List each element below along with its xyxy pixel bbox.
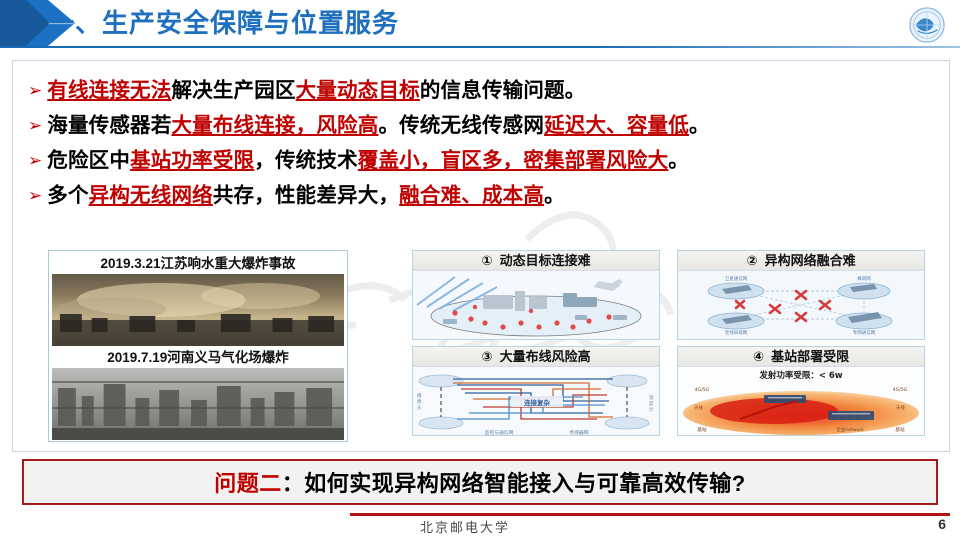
question-banner: 问题二：如何实现异构网络智能接入与可靠高效传输? bbox=[22, 459, 938, 505]
bullet-list: ➢ 有线连接无法解决生产园区大量动态目标的信息传输问题。 ➢ 海量传感器若大量布… bbox=[28, 76, 938, 216]
bullet-segment: 。 bbox=[544, 184, 565, 207]
svg-text:像: 像 bbox=[417, 398, 422, 405]
problem-panel-2: ② 异构网络融合难 bbox=[677, 250, 925, 340]
svg-text:卫星通信网: 卫星通信网 bbox=[725, 275, 748, 282]
svg-text:连接复杂: 连接复杂 bbox=[524, 398, 551, 407]
svg-text:头: 头 bbox=[417, 404, 422, 411]
problem-panel-grid: ① 动态目标连接难 bbox=[412, 250, 930, 442]
panel-title: ① 动态目标连接难 bbox=[413, 251, 659, 271]
photo-caption: 2019.7.19河南义马气化场爆炸 bbox=[52, 348, 344, 368]
question-label: 问题二 bbox=[214, 471, 282, 496]
problem-panel-3: ③ 大量布线风险高 bbox=[412, 346, 660, 436]
panel-index: ② bbox=[746, 253, 757, 268]
bullet-segment: 有线连接无法 bbox=[47, 79, 171, 102]
bullet-segment: 基站功率受限 bbox=[130, 149, 254, 172]
bullet-item: ➢ 海量传感器若大量布线连接，风险高。传统无线传感网延迟大、容量低。 bbox=[28, 111, 938, 141]
svg-text:监控与通信网: 监控与通信网 bbox=[485, 429, 514, 436]
bullet-segment: ，传统技术 bbox=[254, 149, 358, 172]
bullet-segment: 共存，性能差异大， bbox=[213, 184, 399, 207]
footer-organization: 北京邮电大学 bbox=[420, 517, 510, 536]
bullet-segment: 解决生产园区 bbox=[171, 79, 295, 102]
header-divider bbox=[0, 46, 960, 48]
svg-text:传感器网: 传感器网 bbox=[569, 429, 588, 436]
accident-photo-card: 2019.7.19河南义马气化场爆炸 bbox=[52, 348, 344, 440]
question-text: 问题二：如何实现异构网络智能接入与可靠高效传输? bbox=[214, 466, 745, 498]
svg-text:摄: 摄 bbox=[417, 392, 422, 399]
panel-label: 基站部署受限 bbox=[771, 349, 849, 364]
svg-text:基站: 基站 bbox=[895, 426, 905, 433]
bullet-segment: 延迟大、容量低 bbox=[544, 114, 689, 137]
svg-text:度: 度 bbox=[649, 400, 654, 407]
bullet-segment: 。 bbox=[668, 149, 689, 172]
panel-note-text: 发射功率受限：< 6w bbox=[758, 370, 842, 381]
svg-text:4G/5G: 4G/5G bbox=[893, 387, 908, 393]
panel-diagram-dynamic-targets bbox=[413, 271, 659, 340]
bullet-segment: 多个 bbox=[47, 184, 88, 207]
bullet-segment: 异构无线网络 bbox=[89, 184, 213, 207]
panel-diagram-cabling-risk: 连接复杂 监控与通信网 传感器网 摄像头 温度计 bbox=[413, 367, 659, 436]
panel-diagram-heterogeneous-networks: 卫星通信网 蜂窝网 无线局域网 专网通信网 bbox=[678, 271, 924, 340]
svg-text:企业network: 企业network bbox=[836, 426, 864, 433]
panel-title: ③ 大量布线风险高 bbox=[413, 347, 659, 367]
panel-label: 异构网络融合难 bbox=[765, 253, 856, 268]
panel-index: ③ bbox=[481, 349, 492, 364]
question-body: 如何实现异构网络智能接入与可靠高效传输? bbox=[304, 471, 745, 496]
svg-text:基站: 基站 bbox=[697, 426, 707, 433]
page-number: 6 bbox=[938, 516, 946, 532]
footer-divider bbox=[350, 513, 950, 516]
slide-root: 一、生产安全保障与位置服务 ➢ 有线连接无法解决生产园区大量动态目标的信息传输问… bbox=[0, 0, 960, 540]
svg-text:天线: 天线 bbox=[896, 404, 905, 411]
bullet-segment: 融合难、成本高 bbox=[399, 184, 544, 207]
bullet-item: ➢ 有线连接无法解决生产园区大量动态目标的信息传输问题。 bbox=[28, 76, 938, 106]
svg-text:4G/5G: 4G/5G bbox=[695, 387, 710, 393]
panel-diagram-base-station-limit: 发射功率受限：< 6w 4G/5G 4G/5G 基站 企业network 基站 … bbox=[678, 367, 924, 436]
panel-label: 大量布线风险高 bbox=[500, 349, 591, 364]
bullet-marker-icon: ➢ bbox=[28, 181, 42, 211]
svg-text:温: 温 bbox=[649, 394, 654, 401]
bullet-segment: 的信息传输问题。 bbox=[420, 79, 586, 102]
bullet-segment: 覆盖小，盲区多，密集部署风险大 bbox=[358, 149, 669, 172]
bullet-marker-icon: ➢ bbox=[28, 76, 42, 106]
panel-title: ② 异构网络融合难 bbox=[678, 251, 924, 271]
photo-caption: 2019.3.21江苏响水重大爆炸事故 bbox=[52, 254, 344, 274]
bullet-segment: 。 bbox=[689, 114, 710, 137]
accident-photo-card: 2019.3.21江苏响水重大爆炸事故 bbox=[52, 254, 344, 346]
slide-header: 一、生产安全保障与位置服务 bbox=[0, 0, 960, 52]
bullet-item: ➢ 多个异构无线网络共存，性能差异大，融合难、成本高。 bbox=[28, 181, 938, 211]
svg-text:天线: 天线 bbox=[694, 404, 703, 411]
problem-panel-4: ④ 基站部署受限 bbox=[677, 346, 925, 436]
bullet-segment: 。传统无线传感网 bbox=[378, 114, 544, 137]
svg-text:专网通信网: 专网通信网 bbox=[853, 329, 876, 336]
question-separator: ： bbox=[282, 471, 305, 496]
page-title: 一、生产安全保障与位置服务 bbox=[48, 2, 399, 44]
bullet-marker-icon: ➢ bbox=[28, 146, 42, 176]
bullet-marker-icon: ➢ bbox=[28, 111, 42, 141]
panel-title: ④ 基站部署受限 bbox=[678, 347, 924, 367]
panel-label: 动态目标连接难 bbox=[500, 253, 591, 268]
bullet-segment: 海量传感器若 bbox=[47, 114, 171, 137]
bullet-segment: 大量布线连接，风险高 bbox=[171, 114, 378, 137]
accident-photo-column: 2019.3.21江苏响水重大爆炸事故 bbox=[48, 250, 348, 442]
panel-index: ④ bbox=[753, 349, 764, 364]
svg-text:计: 计 bbox=[649, 406, 654, 413]
university-emblem-icon bbox=[908, 6, 946, 44]
problem-panel-1: ① 动态目标连接难 bbox=[412, 250, 660, 340]
panel-index: ① bbox=[481, 253, 492, 268]
bullet-segment: 大量动态目标 bbox=[296, 79, 420, 102]
svg-text:蜂窝网: 蜂窝网 bbox=[857, 275, 871, 282]
bullet-segment: 危险区中 bbox=[47, 149, 130, 172]
svg-text:无线局域网: 无线局域网 bbox=[725, 329, 748, 336]
bullet-item: ➢ 危险区中基站功率受限，传统技术覆盖小，盲区多，密集部署风险大。 bbox=[28, 146, 938, 176]
